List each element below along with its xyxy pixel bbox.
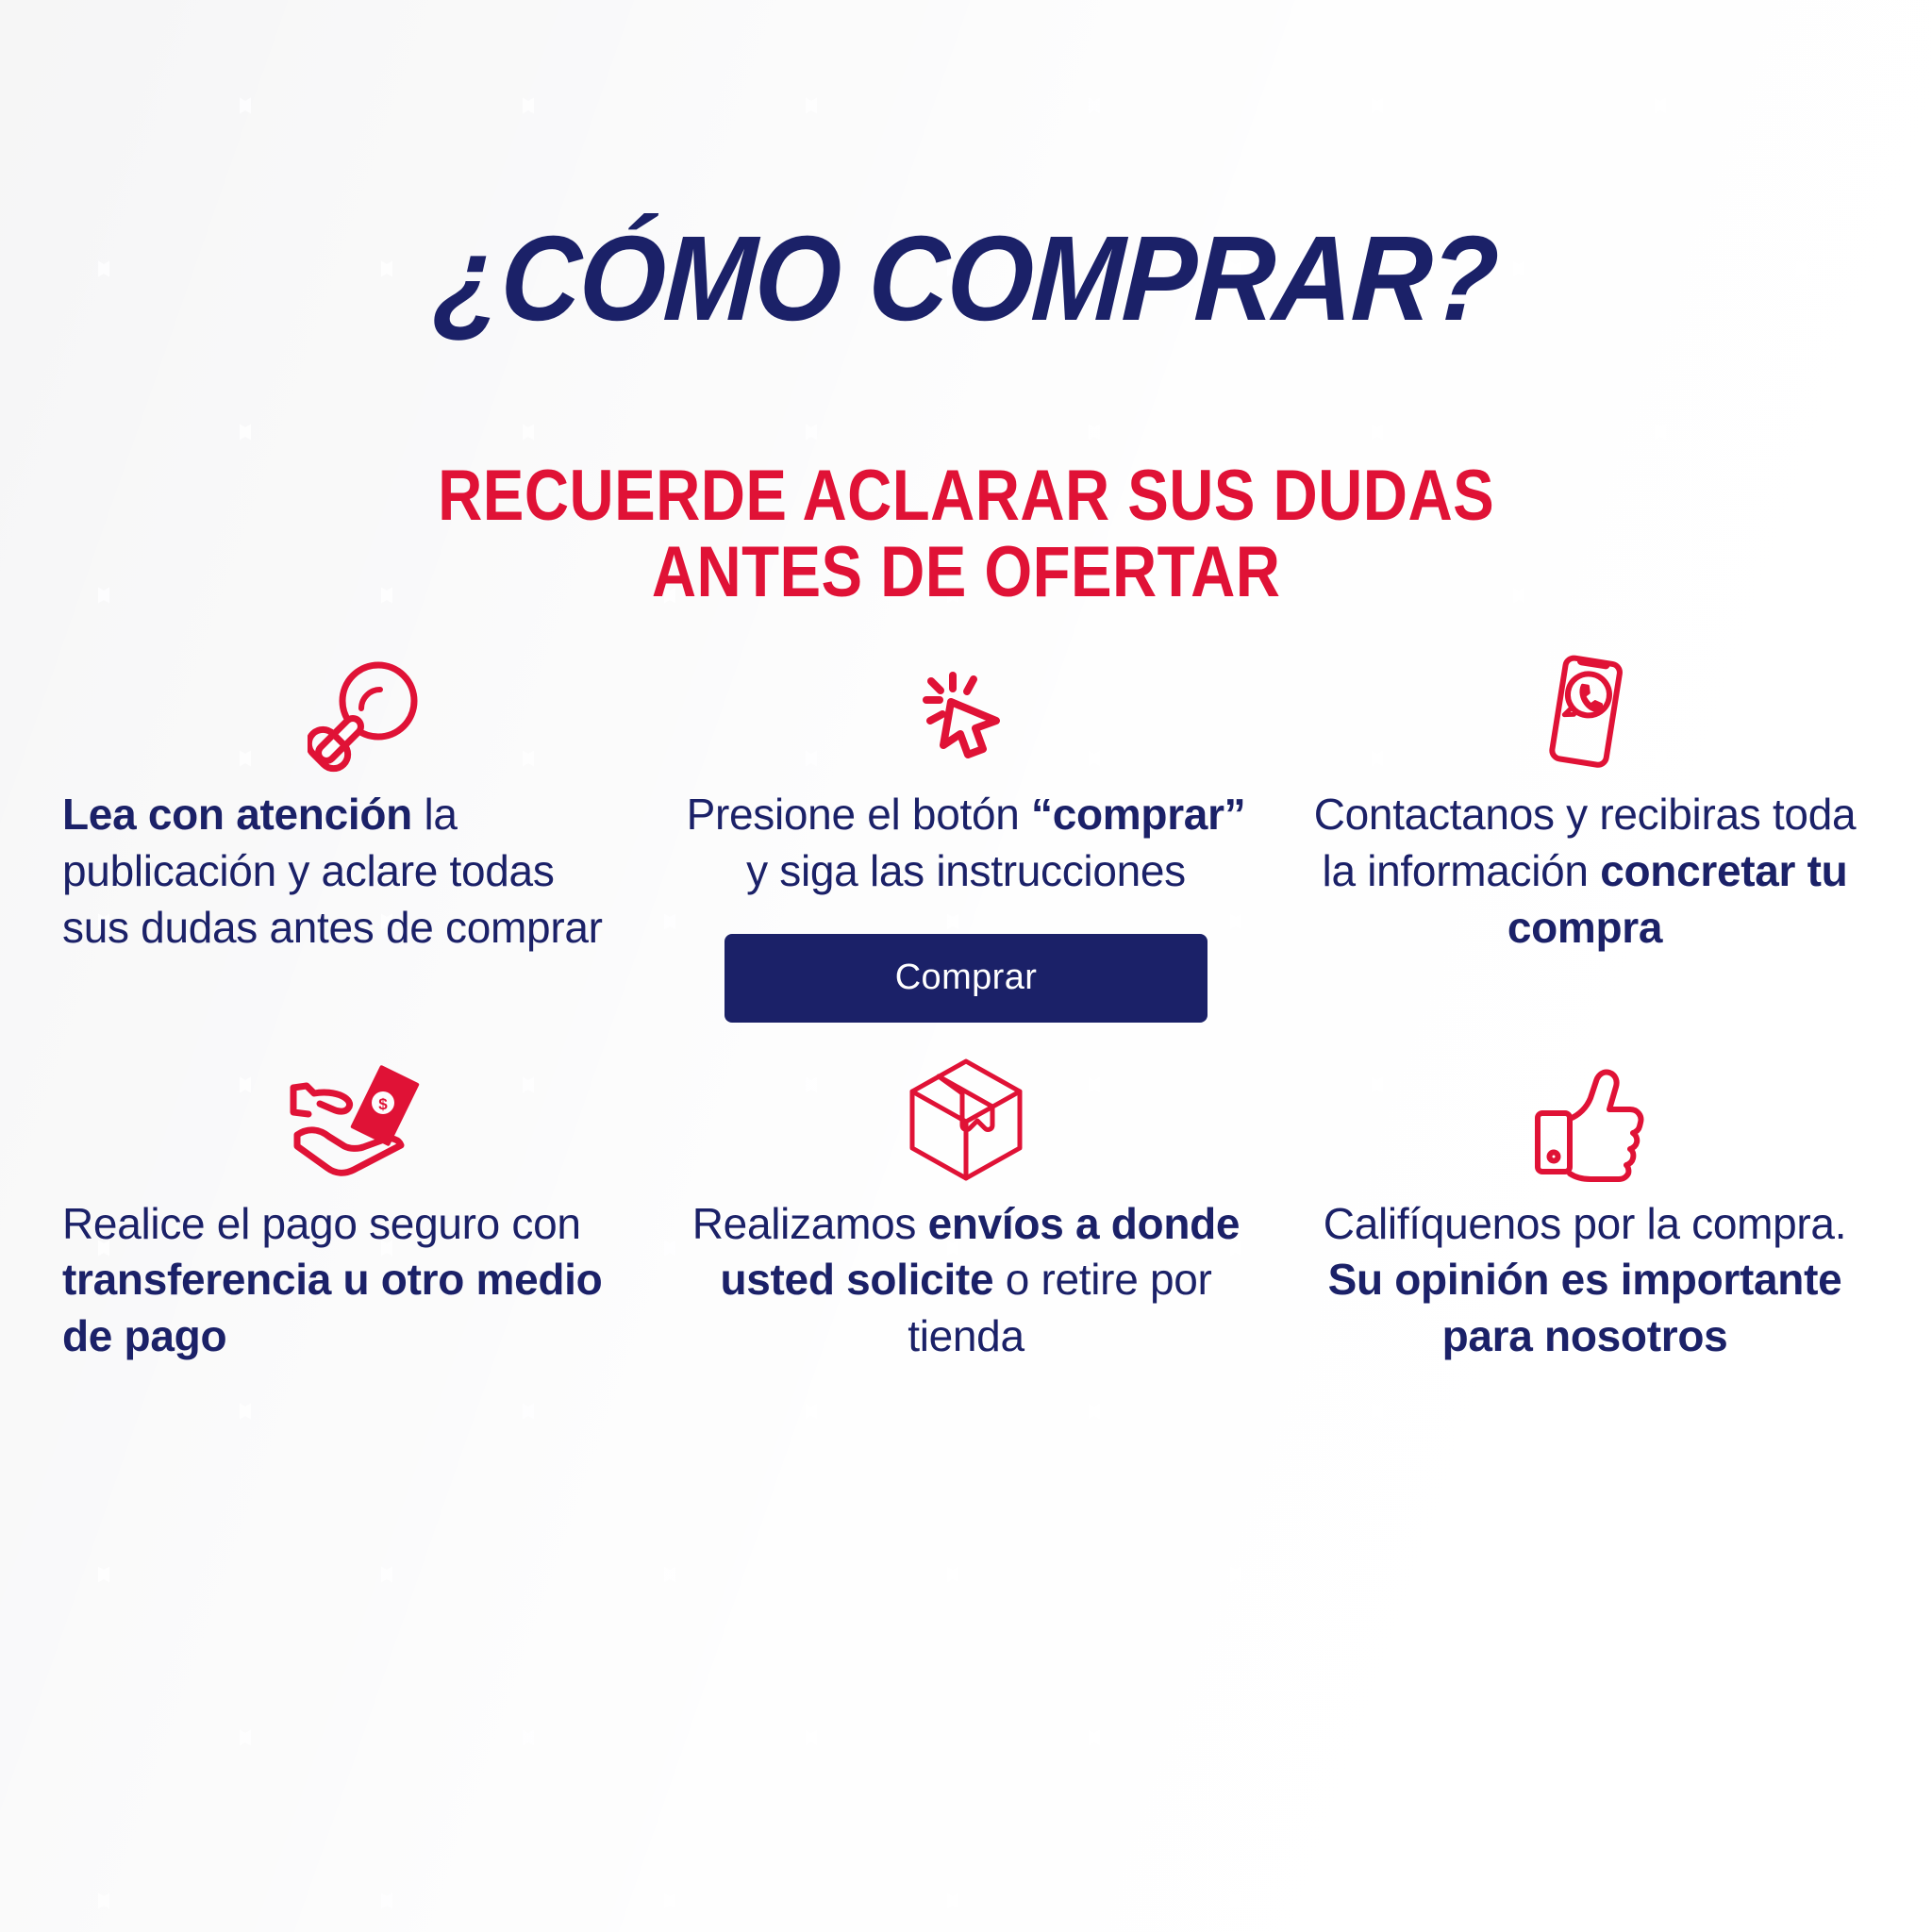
step-text-bold: Lea con atención	[62, 790, 424, 839]
step-text-bold: “comprar”	[1031, 790, 1245, 839]
step-text-bold: Su opinión es importante para nosotros	[1328, 1255, 1842, 1360]
step-card-text: Lea con atención la publicación y aclare…	[62, 787, 632, 956]
steps-grid: Lea con atención la publicación y aclare…	[38, 651, 1894, 1365]
whatsapp-phone-icon	[1528, 651, 1641, 774]
step-text-normal: Realizamos	[692, 1199, 928, 1248]
money-hands-icon: $	[286, 1051, 427, 1183]
step-card-rate-us: Califíquenos por la compra. Su opinión e…	[1275, 1051, 1894, 1365]
comprar-button[interactable]: Comprar	[724, 934, 1207, 1023]
thumbs-up-icon	[1526, 1051, 1644, 1183]
step-text-bold: transferencia u otro medio de pago	[62, 1255, 602, 1360]
step-card-text: Presione el botón “comprar” y siga las i…	[681, 787, 1251, 900]
step-card-text: Contactanos y recibiras toda la informac…	[1300, 787, 1870, 956]
page-subtitle-container: RECUERDE ACLARAR SUS DUDAS ANTES DE OFER…	[0, 458, 1932, 610]
step-card-shipping: Realizamos envíos a donde usted solicite…	[657, 1051, 1275, 1365]
page-subtitle: RECUERDE ACLARAR SUS DUDAS ANTES DE OFER…	[438, 458, 1494, 610]
click-cursor-icon	[909, 651, 1023, 774]
step-card-contact-us: Contactanos y recibiras toda la informac…	[1275, 651, 1894, 1023]
step-card-secure-payment: $ Realice el pago seguro con transferenc…	[38, 1051, 657, 1365]
step-text-normal: Califíquenos por la compra.	[1324, 1199, 1846, 1248]
step-card-text: Realice el pago seguro con transferencia…	[62, 1196, 632, 1365]
step-text-normal: Realice el pago seguro con	[62, 1199, 581, 1248]
step-card-text: Califíquenos por la compra. Su opinión e…	[1300, 1196, 1870, 1365]
step-text-normal: Presione el botón	[687, 790, 1031, 839]
page-title: ¿CÓMO COMPRAR?	[432, 219, 1500, 340]
step-text-normal-2: y siga las instrucciones	[746, 846, 1186, 895]
step-card-text: Realizamos envíos a donde usted solicite…	[681, 1196, 1251, 1365]
svg-text:$: $	[378, 1095, 388, 1113]
package-box-icon	[905, 1051, 1027, 1183]
magnifier-icon	[308, 651, 425, 774]
page-title-container: ¿CÓMO COMPRAR?	[0, 219, 1932, 340]
step-card-read-carefully: Lea con atención la publicación y aclare…	[38, 651, 657, 1023]
step-card-press-buy: Presione el botón “comprar” y siga las i…	[657, 651, 1275, 1023]
